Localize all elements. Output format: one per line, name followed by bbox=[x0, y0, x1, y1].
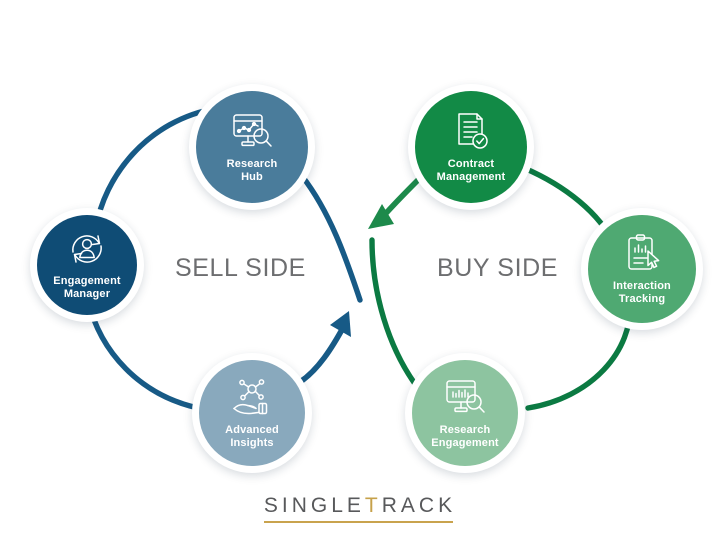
node-interaction-tracking[interactable]: Interaction Tracking bbox=[581, 208, 703, 330]
logo-underline-rule bbox=[264, 521, 453, 523]
node-research-engagement-label: Research Engagement bbox=[431, 424, 499, 450]
buy-side-label: BUY SIDE bbox=[437, 254, 558, 283]
person-refresh-cycle-icon bbox=[65, 230, 109, 268]
node-advanced-insights-disc: Advanced Insights bbox=[199, 360, 305, 466]
diagram-canvas: SELL SIDE BUY SIDE Research bbox=[0, 0, 720, 540]
node-contract-management-label: Contract Management bbox=[437, 158, 506, 184]
sell-side-label: SELL SIDE bbox=[175, 254, 306, 283]
node-contract-management-disc: Contract Management bbox=[415, 91, 527, 203]
logo-part-1: SINGLE bbox=[264, 494, 365, 517]
connector-sell-right-descend bbox=[302, 176, 360, 300]
node-research-hub-disc: Research Hub bbox=[196, 91, 308, 203]
node-advanced-insights-label: Advanced Insights bbox=[225, 424, 279, 450]
monitor-bar-chart-magnifier-icon bbox=[441, 377, 489, 417]
logo-part-2: RACK bbox=[382, 494, 456, 517]
node-interaction-tracking-label: Interaction Tracking bbox=[613, 280, 671, 306]
monitor-line-chart-magnifier-icon bbox=[228, 111, 276, 151]
connector-buy-left-ascend bbox=[372, 240, 418, 388]
clipboard-bar-chart-cursor-icon bbox=[621, 233, 663, 273]
node-research-engagement[interactable]: Research Engagement bbox=[405, 353, 525, 473]
logo-letter-t: T bbox=[365, 494, 382, 517]
node-research-engagement-disc: Research Engagement bbox=[412, 360, 518, 466]
node-engagement-manager-label: Engagement Manager bbox=[53, 275, 121, 301]
node-research-hub[interactable]: Research Hub bbox=[189, 84, 315, 210]
node-engagement-manager[interactable]: Engagement Manager bbox=[30, 208, 144, 322]
singletrack-logo: SINGLETRACK bbox=[0, 494, 720, 523]
connector-sell-arrow-shaft bbox=[300, 326, 344, 382]
node-research-hub-label: Research Hub bbox=[227, 158, 278, 184]
logo-wordmark: SINGLETRACK bbox=[264, 494, 456, 523]
node-advanced-insights[interactable]: Advanced Insights bbox=[192, 353, 312, 473]
node-interaction-tracking-disc: Interaction Tracking bbox=[588, 215, 696, 323]
hand-network-nodes-icon bbox=[229, 377, 275, 417]
node-engagement-manager-disc: Engagement Manager bbox=[37, 215, 137, 315]
node-contract-management[interactable]: Contract Management bbox=[408, 84, 534, 210]
document-check-icon bbox=[450, 111, 492, 151]
